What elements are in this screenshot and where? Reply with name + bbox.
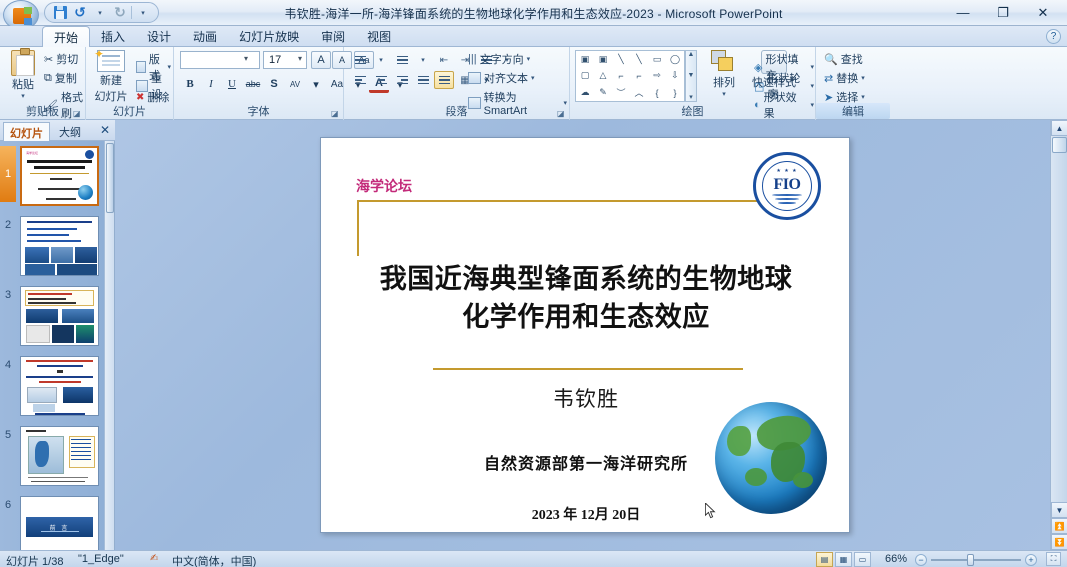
arrange-button[interactable]: 排列 ▾	[702, 50, 746, 98]
bullets-icon	[355, 56, 366, 65]
shape-right-arrow[interactable]: ⇨	[648, 68, 666, 85]
thumbnail-preview[interactable]	[20, 426, 99, 486]
zoom-handle[interactable]	[967, 554, 974, 566]
thumbnail-preview[interactable]: 前 言	[20, 496, 99, 550]
thumbnail-item-3[interactable]: 3	[0, 283, 105, 351]
shape-oval[interactable]: ◯	[666, 51, 684, 68]
minimize-button[interactable]: —	[943, 2, 983, 23]
scrollbar-bottom-buttons: ▼ ⏫ ⏬	[1051, 502, 1067, 550]
scroll-up-button[interactable]: ▲	[1051, 120, 1067, 136]
pointer-icon: ➤	[824, 91, 833, 104]
group-drawing: ▣ ▣ ╲ ╲ ▭ ◯ ▢ △ ⌐ ⌐ ⇨ ⇩ ☁ ✎ ︶ ︿ { } ▲	[570, 47, 816, 120]
tab-review[interactable]: 审阅	[310, 26, 356, 47]
grow-font-button[interactable]: A	[311, 51, 331, 69]
window-title: 韦钦胜-海洋一所-海洋锋面系统的生物地球化学作用和生态效应-2023 - Mic…	[0, 5, 1067, 22]
copy-icon: ⧉	[44, 72, 52, 85]
theme-name[interactable]: "1_Edge"	[78, 553, 124, 565]
ribbon-tabs: 开始 插入 设计 动画 幻灯片放映 审阅 视图	[42, 26, 402, 47]
delete-x-icon: ✖	[136, 92, 144, 103]
group-clipboard: 粘贴 ▾ ✂ 剪切 ⧉ 复制 🖌 格式刷 剪贴板 ◪	[0, 47, 86, 120]
shapes-gallery-scrollbar[interactable]: ▲ ▼ ▾	[685, 50, 697, 102]
strikethrough-button[interactable]: abc	[243, 75, 263, 93]
slide-canvas[interactable]: 海学论坛 ★ ★ ★ FIO 我国近海典型锋面系统的生物地球 化学作用和生态效应…	[320, 137, 850, 533]
group-paragraph: ▾ ▾ ⇤ ⇥ ▾ ▦ ▾ ||| 文字方向 ▾	[344, 47, 570, 120]
decrease-indent-button[interactable]: ⇤	[434, 51, 454, 69]
shape-down-arrow[interactable]: ⇩	[666, 68, 684, 85]
decrease-indent-icon: ⇤	[440, 55, 448, 66]
italic-button[interactable]: I	[201, 75, 221, 93]
character-spacing-button[interactable]: AV	[285, 75, 305, 93]
fio-logo-text: FIO	[774, 177, 801, 193]
arrange-caret-icon: ▾	[722, 90, 726, 98]
status-bar: 幻灯片 1/38 "1_Edge" ✍ 中文(简体，中国) ▤ ▦ ▭ 66% …	[0, 550, 1067, 567]
fit-to-window-button[interactable]: ⛶	[1046, 552, 1061, 566]
ribbon: 粘贴 ▾ ✂ 剪切 ⧉ 复制 🖌 格式刷 剪贴板 ◪ ✦ 新建 幻灯片	[0, 47, 1067, 120]
language-indicator[interactable]: 中文(简体，中国)	[172, 553, 256, 567]
bullets-caret-icon[interactable]: ▾	[371, 51, 391, 69]
shape-rectangle[interactable]: ▭	[648, 51, 666, 68]
tab-view[interactable]: 视图	[356, 26, 402, 47]
slides-pane-tabs: 幻灯片 大纲 ✕	[0, 120, 115, 141]
fio-logo: ★ ★ ★ FIO	[753, 152, 821, 220]
wave-icon	[772, 194, 802, 204]
replace-button[interactable]: ⇄ 替换 ▾	[822, 69, 867, 87]
thumbnail-number: 1	[0, 146, 16, 202]
close-button[interactable]: ✕	[1023, 2, 1063, 23]
gallery-scroll-down-icon[interactable]: ▼	[688, 72, 695, 79]
help-icon[interactable]: ?	[1046, 29, 1061, 44]
tab-design[interactable]: 设计	[136, 26, 182, 47]
landmass	[745, 468, 767, 486]
gallery-scroll-up-icon[interactable]: ▲	[688, 51, 695, 58]
shapes-gallery[interactable]: ▣ ▣ ╲ ╲ ▭ ◯ ▢ △ ⌐ ⌐ ⇨ ⇩ ☁ ✎ ︶ ︿ { }	[575, 50, 685, 102]
shape-arc[interactable]: ︿	[630, 84, 648, 101]
justify-button[interactable]	[413, 71, 433, 89]
shape-round-rect[interactable]: ▢	[576, 68, 594, 85]
align-center-button[interactable]	[371, 71, 391, 89]
bullets-button[interactable]	[350, 51, 370, 69]
font-size-value: 17	[269, 54, 281, 66]
clipboard-icon	[11, 50, 35, 76]
view-buttons: ▤ ▦ ▭	[816, 552, 871, 567]
gold-frame-decoration	[357, 200, 817, 256]
paragraph-dialog-launcher-icon[interactable]: ◪	[557, 109, 566, 118]
font-size-input[interactable]: 17 ▾	[263, 51, 307, 69]
font-size-caret-icon: ▾	[298, 54, 302, 63]
restore-button[interactable]: ❐	[983, 2, 1023, 23]
distribute-icon	[439, 76, 450, 85]
gallery-more-icon[interactable]: ▾	[689, 93, 693, 101]
slides-pane: 幻灯片 大纲 ✕ 1 海学论坛	[0, 120, 115, 550]
window-controls: — ❐ ✕	[943, 2, 1063, 23]
zoom-track[interactable]	[931, 559, 1021, 561]
landmass	[727, 426, 751, 456]
tab-insert[interactable]: 插入	[90, 26, 136, 47]
close-pane-icon[interactable]: ✕	[100, 123, 110, 137]
slides-pane-scroll-thumb[interactable]	[106, 143, 114, 213]
slide-title-line-1: 我国近海典型锋面系统的生物地球	[341, 260, 831, 298]
slides-group-label: 幻灯片	[86, 103, 173, 119]
align-right-icon	[397, 76, 408, 85]
numbering-button[interactable]	[392, 51, 412, 69]
text-direction-icon: |||	[468, 53, 477, 65]
slide-sorter-button[interactable]: ▦	[835, 552, 852, 567]
align-text-caret-icon: ▾	[531, 74, 535, 82]
editing-group-label: 编辑	[816, 103, 890, 119]
thumbnail-number: 6	[5, 499, 11, 511]
align-text-label: 对齐文本	[484, 70, 528, 86]
zoom-out-button[interactable]: −	[915, 554, 927, 566]
tab-animations[interactable]: 动画	[182, 26, 228, 47]
font-name-input[interactable]: ▾	[180, 51, 260, 69]
arrange-label: 排列	[713, 74, 735, 90]
align-center-icon	[376, 76, 387, 85]
title-bar: ↺ ▾ ↻ ▾ 韦钦胜-海洋一所-海洋锋面系统的生物地球化学作用和生态效应-20…	[0, 0, 1067, 26]
thumbnail-item-6[interactable]: 6 前 言	[0, 493, 105, 550]
new-slide-button[interactable]: ✦ 新建 幻灯片	[90, 50, 132, 104]
copy-label: 复制	[55, 70, 77, 86]
shape-cloud[interactable]: ☁	[576, 84, 594, 101]
paste-label: 粘贴	[12, 76, 34, 92]
pane-tab-slides[interactable]: 幻灯片	[3, 122, 50, 141]
shape-left-brace[interactable]: {	[648, 84, 666, 101]
shape-textbox2[interactable]: ▣	[594, 51, 612, 68]
thumbnail-preview[interactable]: 海学论坛	[20, 146, 99, 206]
shape-textbox[interactable]: ▣	[576, 51, 594, 68]
replace-label: 替换	[836, 70, 858, 86]
thumbnail-number: 4	[5, 359, 11, 371]
paste-button[interactable]: 粘贴 ▾	[6, 50, 40, 100]
fio-stars: ★ ★ ★	[776, 168, 797, 174]
thumbnail-item-1[interactable]: 1 海学论坛	[0, 143, 105, 211]
group-font: ▾ 17 ▾ A A Aa B I U abc S AV ▾ Aa ▾ A ▾	[174, 47, 344, 120]
normal-view-button[interactable]: ▤	[816, 552, 833, 567]
zoom-level[interactable]: 66%	[885, 553, 907, 565]
shape-line[interactable]: ╲	[612, 51, 630, 68]
new-slide-label-2: 幻灯片	[95, 88, 128, 104]
thumbnail-item-2[interactable]: 2	[0, 213, 105, 281]
paste-caret-icon: ▾	[21, 92, 25, 100]
thumbnail-number: 5	[5, 429, 11, 441]
landmass	[793, 472, 813, 488]
scroll-thumb[interactable]	[1052, 137, 1067, 153]
thumbnail-item-5[interactable]: 5	[0, 423, 105, 491]
slide-title[interactable]: 我国近海典型锋面系统的生物地球 化学作用和生态效应	[341, 260, 831, 337]
binoculars-icon: 🔍	[824, 53, 838, 66]
group-slides: ✦ 新建 幻灯片 版式 ▾ 重设 ✖ 删除 幻灯片	[86, 47, 174, 120]
thumbnail-preview[interactable]	[20, 356, 99, 416]
slides-pane-scrollbar[interactable]	[104, 141, 114, 550]
powerpoint-window: ↺ ▾ ↻ ▾ 韦钦胜-海洋一所-海洋锋面系统的生物地球化学作用和生态效应-20…	[0, 0, 1067, 567]
numbering-caret-icon[interactable]: ▾	[413, 51, 433, 69]
work-area: 幻灯片 大纲 ✕ 1 海学论坛	[0, 120, 1067, 550]
distribute-button[interactable]	[434, 71, 454, 89]
spacing-caret-icon[interactable]: ▾	[306, 75, 326, 93]
numbering-icon	[397, 56, 408, 65]
new-slide-label-1: 新建	[100, 72, 122, 88]
arrange-icon	[711, 50, 737, 74]
zoom-in-button[interactable]: +	[1025, 554, 1037, 566]
cut-label: 剪切	[56, 51, 78, 67]
font-group-label: 字体	[174, 103, 343, 119]
align-text-button[interactable]: 对齐文本 ▾	[466, 69, 537, 87]
next-slide-button[interactable]: ⏬	[1051, 534, 1067, 550]
copy-button[interactable]: ⧉ 复制	[42, 69, 79, 87]
find-label: 查找	[841, 51, 863, 67]
shape-right-brace[interactable]: }	[666, 84, 684, 101]
thumbnail-item-4[interactable]: 4	[0, 353, 105, 421]
previous-slide-button[interactable]: ⏫	[1051, 518, 1067, 534]
replace-icon: ⇄	[824, 72, 833, 85]
shape-arrow-line[interactable]: ╲	[630, 51, 648, 68]
thumbnail-number: 2	[5, 219, 11, 231]
ribbon-tabstrip: 开始 插入 设计 动画 幻灯片放映 审阅 视图 ?	[0, 26, 1067, 47]
text-shadow-button[interactable]: S	[264, 75, 284, 93]
slide-scrollbar[interactable]: ▲ ▼ ⏫ ⏬	[1050, 120, 1067, 550]
gold-rule-decoration	[433, 368, 743, 370]
paragraph-group-label: 段落	[344, 103, 569, 119]
scissors-icon: ✂	[44, 53, 53, 66]
cut-button[interactable]: ✂ 剪切	[42, 50, 80, 68]
clipboard-dialog-launcher-icon[interactable]: ◪	[73, 109, 82, 118]
shape-elbow[interactable]: ⌐	[612, 68, 630, 85]
drawing-group-label: 绘图	[570, 103, 815, 119]
align-right-button[interactable]	[392, 71, 412, 89]
bold-button[interactable]: B	[180, 75, 200, 93]
sparkle-icon: ✦	[94, 47, 104, 61]
tab-home[interactable]: 开始	[42, 26, 90, 47]
align-left-button[interactable]	[350, 71, 370, 89]
slide-counter: 幻灯片 1/38	[6, 553, 63, 567]
align-left-icon	[355, 76, 366, 85]
tab-slideshow[interactable]: 幻灯片放映	[228, 26, 310, 47]
shape-freeform[interactable]: ✎	[594, 84, 612, 101]
find-button[interactable]: 🔍 查找	[822, 50, 865, 68]
forum-label: 海学论坛	[356, 176, 412, 196]
select-caret-icon: ▾	[861, 93, 865, 101]
font-dialog-launcher-icon[interactable]: ◪	[331, 109, 340, 118]
language-icon: ✍	[150, 553, 158, 564]
text-direction-caret-icon: ▾	[527, 55, 531, 63]
zoom-slider[interactable]: − +	[915, 554, 1037, 565]
thumbnail-preview[interactable]	[20, 286, 99, 346]
align-text-icon	[468, 72, 481, 84]
slide-title-line-2: 化学作用和生态效应	[341, 298, 831, 336]
thumbnail-number: 3	[5, 289, 11, 301]
scroll-down-button[interactable]: ▼	[1051, 502, 1067, 518]
replace-caret-icon: ▾	[861, 74, 865, 82]
thumbnail-preview[interactable]	[20, 216, 99, 276]
thumbnail-list[interactable]: 1 海学论坛 2	[0, 141, 105, 550]
shape-triangle[interactable]: △	[594, 68, 612, 85]
slideshow-view-button[interactable]: ▭	[854, 552, 871, 567]
text-direction-label: 文字方向	[480, 51, 524, 67]
shape-curve[interactable]: ︶	[612, 84, 630, 101]
font-name-caret-icon: ▾	[244, 54, 248, 63]
new-slide-icon: ✦	[97, 50, 125, 72]
group-editing: 🔍 查找 ⇄ 替换 ▾ ➤ 选择 ▾ 编辑	[816, 47, 890, 120]
underline-button[interactable]: U	[222, 75, 242, 93]
text-direction-button[interactable]: ||| 文字方向 ▾	[466, 50, 532, 68]
fio-logo-inner: ★ ★ ★ FIO	[762, 161, 812, 211]
shape-elbow-arrow[interactable]: ⌐	[630, 68, 648, 85]
mouse-cursor	[705, 503, 717, 520]
pane-tab-outline[interactable]: 大纲	[53, 122, 87, 140]
justify-icon	[418, 76, 429, 85]
globe-image	[715, 402, 827, 514]
